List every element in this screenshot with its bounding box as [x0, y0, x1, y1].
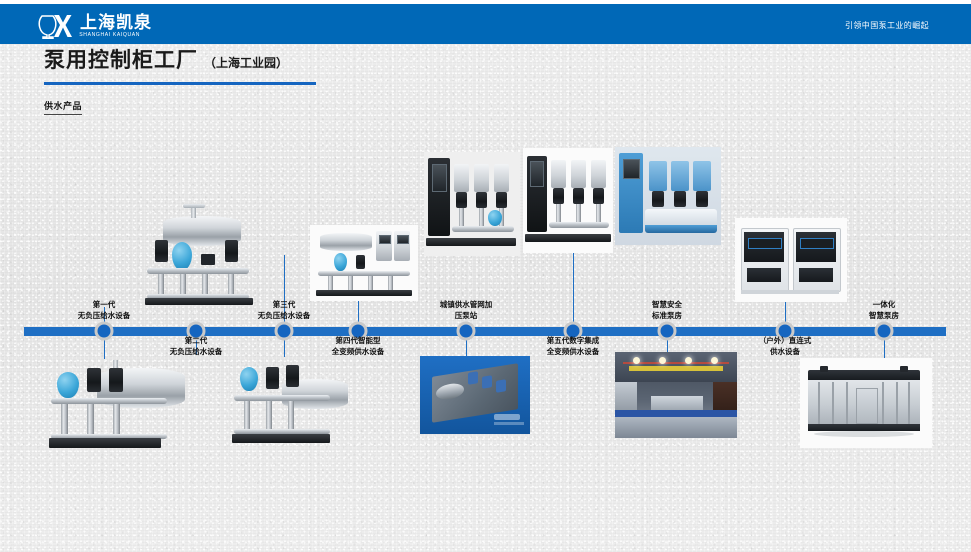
label-gen4-line2: 全变频供水设备 [318, 347, 398, 358]
label-booster-line2: 压泵站 [426, 311, 506, 322]
label-gen2-line1: 第二代 [156, 336, 236, 347]
label-gen3-line2: 无负压给水设备 [244, 311, 324, 322]
label-integrated: 一体化 智慧泵房 [844, 300, 924, 322]
page-title-paren: （上海工业园） [204, 54, 288, 71]
label-smart-room-line2: 标准泵房 [627, 311, 707, 322]
label-gen1: 第一代 无负压给水设备 [64, 300, 144, 322]
page-title: 泵用控制柜工厂 （上海工业园） [44, 44, 316, 74]
label-booster-line1: 城镇供水管网加 [426, 300, 506, 311]
logo-text-en: SHANGHAI KAIQUAN [79, 33, 152, 38]
timeline-dot-booster[interactable] [457, 322, 476, 341]
label-integrated-line2: 智慧泵房 [844, 311, 924, 322]
timeline-dot-smart-room[interactable] [658, 322, 677, 341]
label-gen5-line2: 全变频供水设备 [533, 347, 613, 358]
slide-root: 上海凯泉 SHANGHAI KAIQUAN 引领中国泵工业的崛起 泵用控制柜工厂… [0, 0, 971, 552]
timeline-dot-gen3[interactable] [275, 322, 294, 341]
timeline-dot-gen1[interactable] [95, 322, 114, 341]
label-gen5: 第五代数字集成 全变频供水设备 [533, 336, 613, 358]
label-outdoor-line2: 供水设备 [745, 347, 825, 358]
brand-logo[interactable]: 上海凯泉 SHANGHAI KAIQUAN [38, 13, 152, 39]
timeline-bar [24, 327, 946, 336]
label-gen1-line1: 第一代 [64, 300, 144, 311]
photo-outdoor [735, 218, 847, 302]
timeline-stem-gen5 [573, 250, 574, 331]
photo-gen5a [424, 152, 520, 256]
photo-booster [420, 356, 530, 434]
logo-text-cn: 上海凯泉 [80, 14, 152, 31]
photo-gen5c [615, 147, 721, 245]
label-gen3: 第三代 无负压给水设备 [244, 300, 324, 322]
title-block: 泵用控制柜工厂 （上海工业园） 供水产品 [44, 44, 316, 115]
label-gen1-line2: 无负压给水设备 [64, 311, 144, 322]
page-title-main: 泵用控制柜工厂 [44, 44, 198, 74]
label-integrated-line1: 一体化 [844, 300, 924, 311]
label-booster: 城镇供水管网加 压泵站 [426, 300, 506, 322]
section-subtitle: 供水产品 [44, 99, 82, 115]
photo-gen2 [222, 355, 352, 461]
header-tagline: 引领中国泵工业的崛起 [845, 20, 929, 31]
label-gen5-line1: 第五代数字集成 [533, 336, 613, 347]
photo-gen5b [523, 148, 613, 253]
photo-gen3 [133, 198, 273, 310]
label-gen2-line2: 无负压给水设备 [156, 347, 236, 358]
label-outdoor-line1: （户外）直连式 [745, 336, 825, 347]
label-outdoor: （户外）直连式 供水设备 [745, 336, 825, 358]
label-gen4-line1: 第四代智能型 [318, 336, 398, 347]
kaiquan-logo-icon [38, 13, 74, 39]
photo-integrated [800, 358, 932, 448]
photo-gen1 [35, 358, 193, 460]
label-gen2: 第二代 无负压给水设备 [156, 336, 236, 358]
photo-gen4 [310, 225, 418, 301]
label-smart-room-line1: 智慧安全 [627, 300, 707, 311]
timeline-dot-integrated[interactable] [875, 322, 894, 341]
top-header-bar: 上海凯泉 SHANGHAI KAIQUAN 引领中国泵工业的崛起 [0, 4, 971, 44]
label-gen4: 第四代智能型 全变频供水设备 [318, 336, 398, 358]
title-underline-rule [44, 82, 316, 85]
label-gen3-line1: 第三代 [244, 300, 324, 311]
photo-smart-room [615, 352, 737, 438]
label-smart-room: 智慧安全 标准泵房 [627, 300, 707, 322]
